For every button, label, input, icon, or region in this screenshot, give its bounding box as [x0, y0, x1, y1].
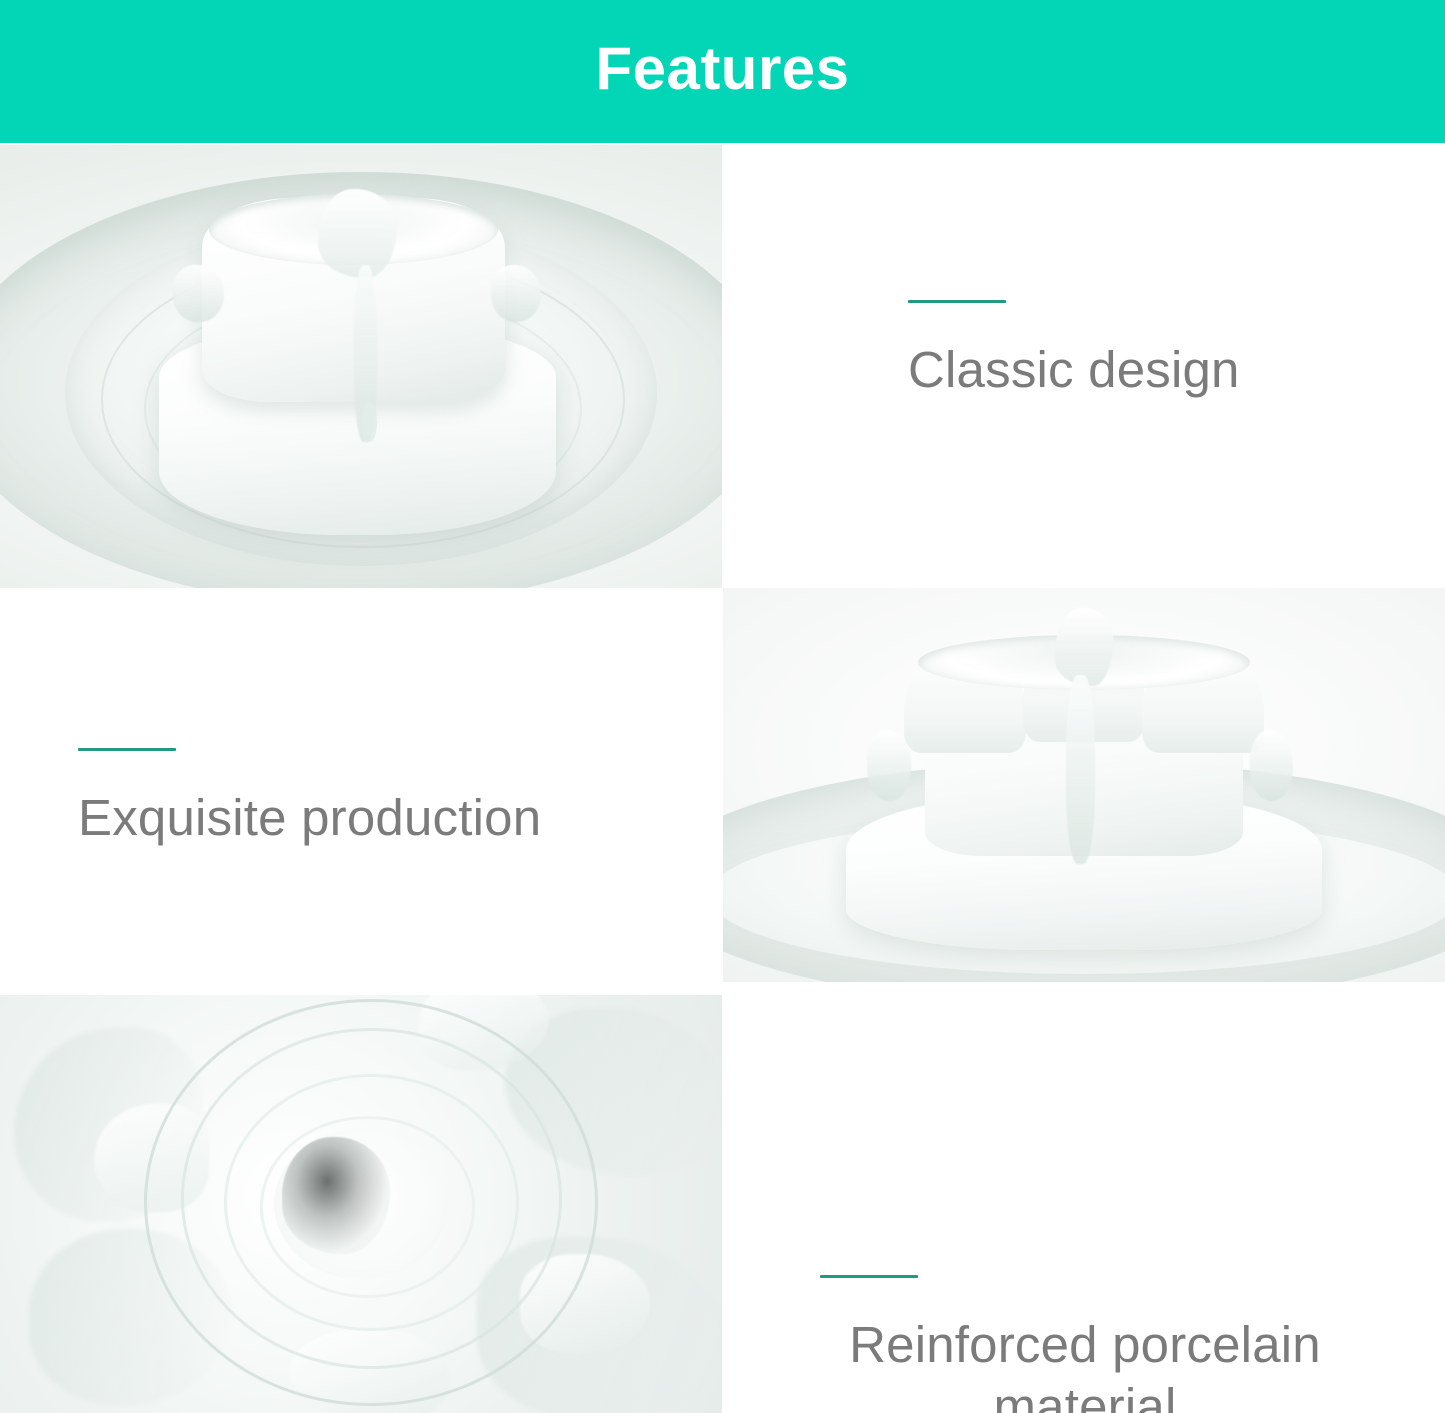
caption-block-reinforced-porcelain-material: Reinforced porcelain material [820, 1275, 1350, 1413]
feature-image-exquisite-production [723, 588, 1445, 982]
accent-rule-icon [820, 1275, 918, 1278]
accent-rule-icon [908, 300, 1006, 303]
fountain-topdown-photo [0, 995, 722, 1413]
water-spout-left [173, 265, 224, 323]
feature-grid: Classic design Exquisite production [0, 143, 1445, 1413]
feature-text-classic-design: Classic design [723, 145, 1445, 588]
feature-caption-exquisite-production: Exquisite production [78, 787, 541, 849]
caption-block-exquisite-production: Exquisite production [78, 748, 541, 849]
feature-caption-reinforced-porcelain-material: Reinforced porcelain material [820, 1314, 1350, 1413]
feature-text-exquisite-production: Exquisite production [0, 588, 722, 995]
feature-text-reinforced-porcelain-material: Reinforced porcelain material [723, 990, 1445, 1413]
fountain-front-photo [723, 588, 1445, 982]
water-bubble [282, 1137, 390, 1254]
features-infographic: Features Classic [0, 0, 1445, 1413]
caption-block-classic-design: Classic design [908, 300, 1240, 401]
water-fall [1066, 675, 1095, 864]
water-side-left [867, 730, 910, 801]
feature-image-classic-design [0, 145, 722, 588]
water-drip [361, 402, 377, 442]
accent-rule-icon [78, 748, 176, 751]
fountain-angled-photo [0, 145, 722, 588]
feature-image-reinforced-porcelain-material [0, 995, 722, 1413]
header-banner: Features [0, 0, 1445, 143]
page-title: Features [595, 39, 849, 99]
feature-caption-classic-design: Classic design [908, 339, 1240, 401]
water-side-right [1250, 730, 1293, 801]
water-splash [318, 189, 397, 278]
